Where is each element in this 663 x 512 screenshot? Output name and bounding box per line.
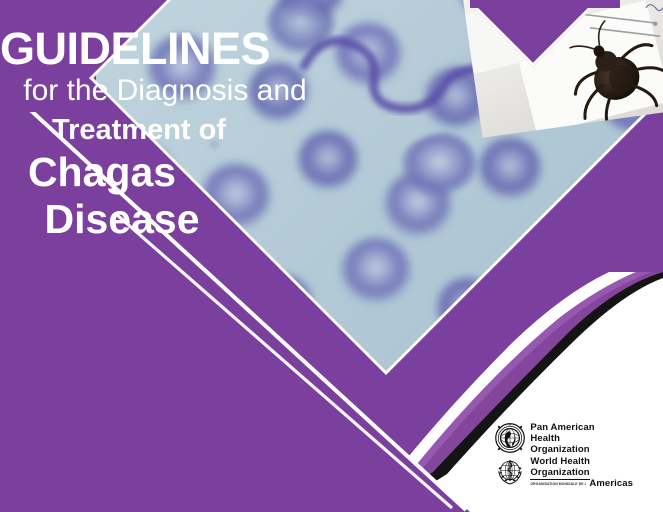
who-multilingual-strip: ORGANISATION MONDIALE DE LA SANTE <box>530 482 586 487</box>
paho-seal-icon <box>495 423 525 453</box>
publication-cover: GUIDELINES for the Diagnosis and Treatme… <box>0 0 663 512</box>
title-line-disease: Disease <box>0 197 400 243</box>
title-line-chagas: Chagas <box>0 150 400 196</box>
who-logo: World Health Organization ORGANISATION M… <box>495 457 633 488</box>
who-emblem-icon <box>495 457 525 487</box>
paho-logo: Pan American Health Organization <box>495 423 633 455</box>
purple-diamond-fill <box>470 0 620 8</box>
title-line-for-the-diagnosis-and: for the Diagnosis and <box>0 74 400 109</box>
paho-logo-text: Pan American Health Organization <box>530 423 594 455</box>
who-line-2: Organization <box>530 468 589 480</box>
paho-line-3: Organization <box>530 445 594 456</box>
who-logo-text: World Health Organization ORGANISATION M… <box>530 457 633 488</box>
who-region-americas: Americas <box>589 479 633 489</box>
organization-logos: Pan American Health Organization <box>495 423 633 490</box>
cover-title-block: GUIDELINES for the Diagnosis and Treatme… <box>0 26 400 243</box>
title-line-treatment-of: Treatment of <box>0 113 400 148</box>
title-line-guidelines: GUIDELINES <box>0 26 400 72</box>
